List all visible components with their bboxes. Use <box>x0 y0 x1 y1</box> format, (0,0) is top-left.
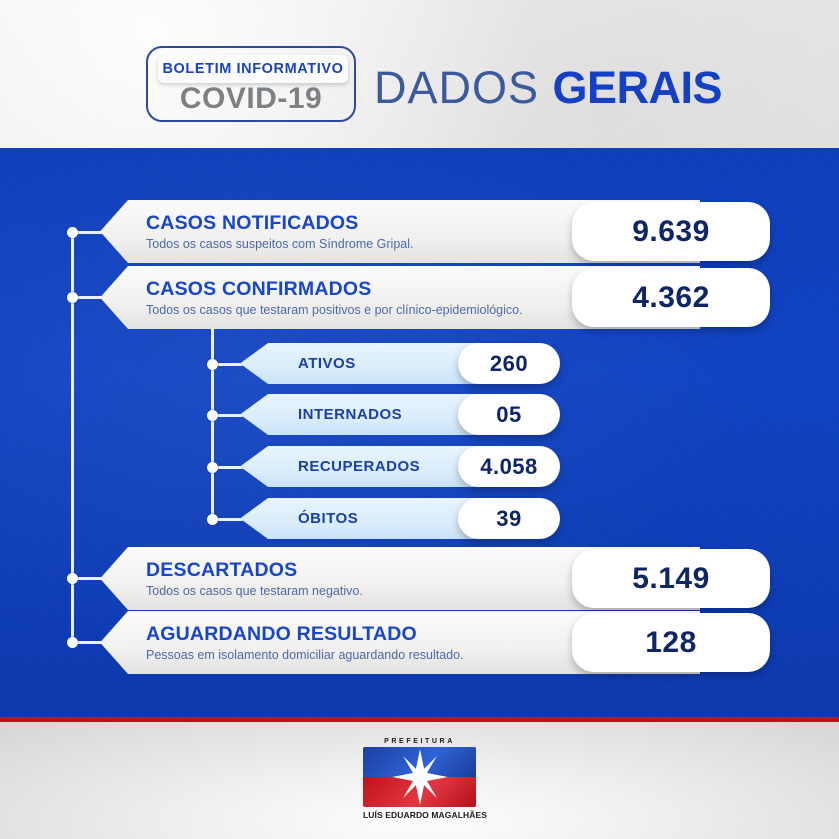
bulletin-label: BOLETIM INFORMATIVO <box>162 61 343 77</box>
prefeitura-logo: PREFEITURA LUÍS EDUARDO MAGALHÃES <box>363 738 476 830</box>
row-descartados: DESCARTADOS Todos os casos que testaram … <box>100 547 770 610</box>
row-value-pill: 4.058 <box>458 446 560 487</box>
node-recuperados <box>207 462 218 473</box>
page-title: DADOS GERAIS <box>374 64 722 112</box>
row-value: 39 <box>496 506 521 532</box>
disease-label: COVID-19 <box>148 82 354 116</box>
row-casos-notificados: CASOS NOTIFICADOS Todos os casos suspeit… <box>100 200 770 263</box>
row-value: 05 <box>496 402 521 428</box>
row-value: 260 <box>490 351 528 377</box>
logo-prefeitura-label: PREFEITURA <box>363 738 476 745</box>
row-value: 4.362 <box>632 281 710 315</box>
eight-point-star-icon <box>391 748 449 806</box>
covid-bulletin-poster: BOLETIM INFORMATIVO COVID-19 DADOS GERAI… <box>0 0 839 839</box>
row-obitos: ÓBITOS 39 <box>240 498 560 539</box>
row-value-pill: 4.362 <box>572 268 770 327</box>
poster-header: BOLETIM INFORMATIVO COVID-19 DADOS GERAI… <box>0 0 839 148</box>
logo-flag <box>363 747 476 807</box>
node-descartados <box>67 573 78 584</box>
row-value: 128 <box>645 626 697 660</box>
node-obitos <box>207 514 218 525</box>
node-casos-notificados <box>67 227 78 238</box>
row-value-pill: 128 <box>572 613 770 672</box>
row-value-pill: 5.149 <box>572 549 770 608</box>
node-aguardando <box>67 637 78 648</box>
row-recuperados: RECUPERADOS 4.058 <box>240 446 560 487</box>
row-internados: INTERNADOS 05 <box>240 394 560 435</box>
row-value: 9.639 <box>632 215 710 249</box>
row-value-pill: 05 <box>458 394 560 435</box>
node-casos-confirmados <box>67 292 78 303</box>
row-value-pill: 9.639 <box>572 202 770 261</box>
row-value-pill: 260 <box>458 343 560 384</box>
row-casos-confirmados: CASOS CONFIRMADOS Todos os casos que tes… <box>100 266 770 329</box>
row-aguardando-resultado: AGUARDANDO RESULTADO Pessoas em isolamen… <box>100 611 770 674</box>
row-value: 4.058 <box>480 454 538 480</box>
row-ativos: ATIVOS 260 <box>240 343 560 384</box>
page-title-bold: GERAIS <box>553 62 723 113</box>
bulletin-badge: BOLETIM INFORMATIVO COVID-19 <box>146 46 356 122</box>
row-value-pill: 39 <box>458 498 560 539</box>
page-title-light: DADOS <box>374 62 539 113</box>
row-value: 5.149 <box>632 562 710 596</box>
bulletin-badge-pill: BOLETIM INFORMATIVO <box>158 55 348 83</box>
node-ativos <box>207 359 218 370</box>
node-internados <box>207 410 218 421</box>
logo-city-name: LUÍS EDUARDO MAGALHÃES <box>363 810 476 820</box>
